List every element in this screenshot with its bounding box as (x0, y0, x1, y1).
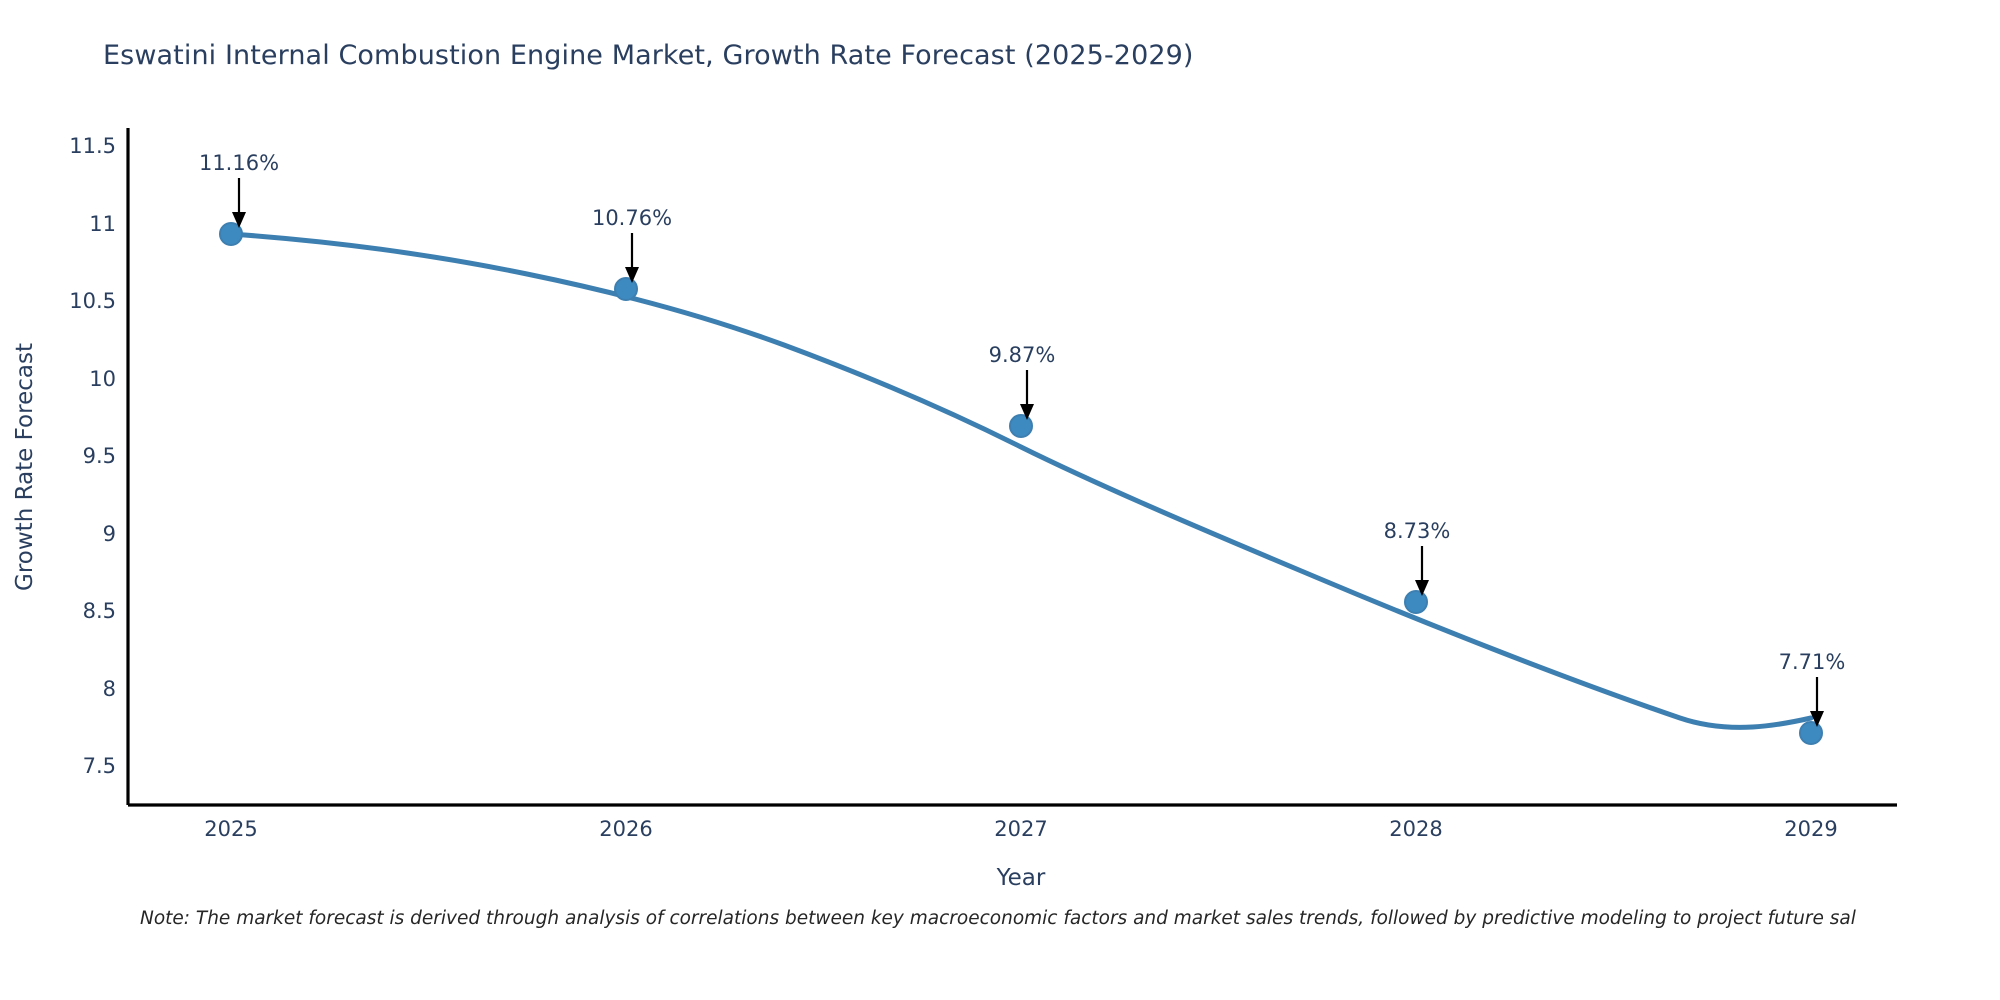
y-tick-label: 10 (89, 367, 116, 391)
annotation-arrow (625, 233, 639, 283)
data-point-marker[interactable] (1010, 415, 1032, 437)
line-chart: 11.5 11 10.5 10 9.5 9 8.5 8 7.5 2025 202… (0, 0, 2000, 1000)
y-tick-label: 11.5 (69, 134, 116, 158)
y-tick-label: 10.5 (69, 289, 116, 313)
x-tick-label: 2028 (1389, 817, 1442, 841)
data-point-marker[interactable] (1800, 722, 1822, 744)
x-tick-label: 2025 (204, 817, 257, 841)
chart-footnote: Note: The market forecast is derived thr… (140, 908, 1856, 929)
data-point-label: 8.73% (1384, 519, 1451, 543)
y-tick-label: 9.5 (83, 444, 116, 468)
data-point-label: 10.76% (592, 206, 672, 230)
y-tick-label: 8 (103, 677, 116, 701)
data-point-label: 11.16% (199, 151, 279, 175)
x-axis-title: Year (996, 865, 1046, 891)
annotation-arrow (232, 178, 246, 228)
y-tick-label: 7.5 (83, 754, 116, 778)
chart-page: Eswatini Internal Combustion Engine Mark… (0, 0, 2000, 1000)
data-point-label: 7.71% (1779, 650, 1846, 674)
x-tick-label: 2027 (994, 817, 1047, 841)
annotation-arrow (1020, 370, 1034, 420)
x-tick-label: 2029 (1784, 817, 1837, 841)
x-tick-label: 2026 (599, 817, 652, 841)
y-tick-label: 8.5 (83, 599, 116, 623)
data-line-series (231, 234, 1811, 727)
data-point-label: 9.87% (989, 343, 1056, 367)
y-axis-title: Growth Rate Forecast (12, 343, 38, 591)
annotation-arrow (1415, 546, 1429, 596)
data-point-marker[interactable] (1405, 591, 1427, 613)
data-point-marker[interactable] (615, 278, 637, 300)
y-tick-label: 9 (103, 522, 116, 546)
y-tick-label: 11 (89, 212, 116, 236)
